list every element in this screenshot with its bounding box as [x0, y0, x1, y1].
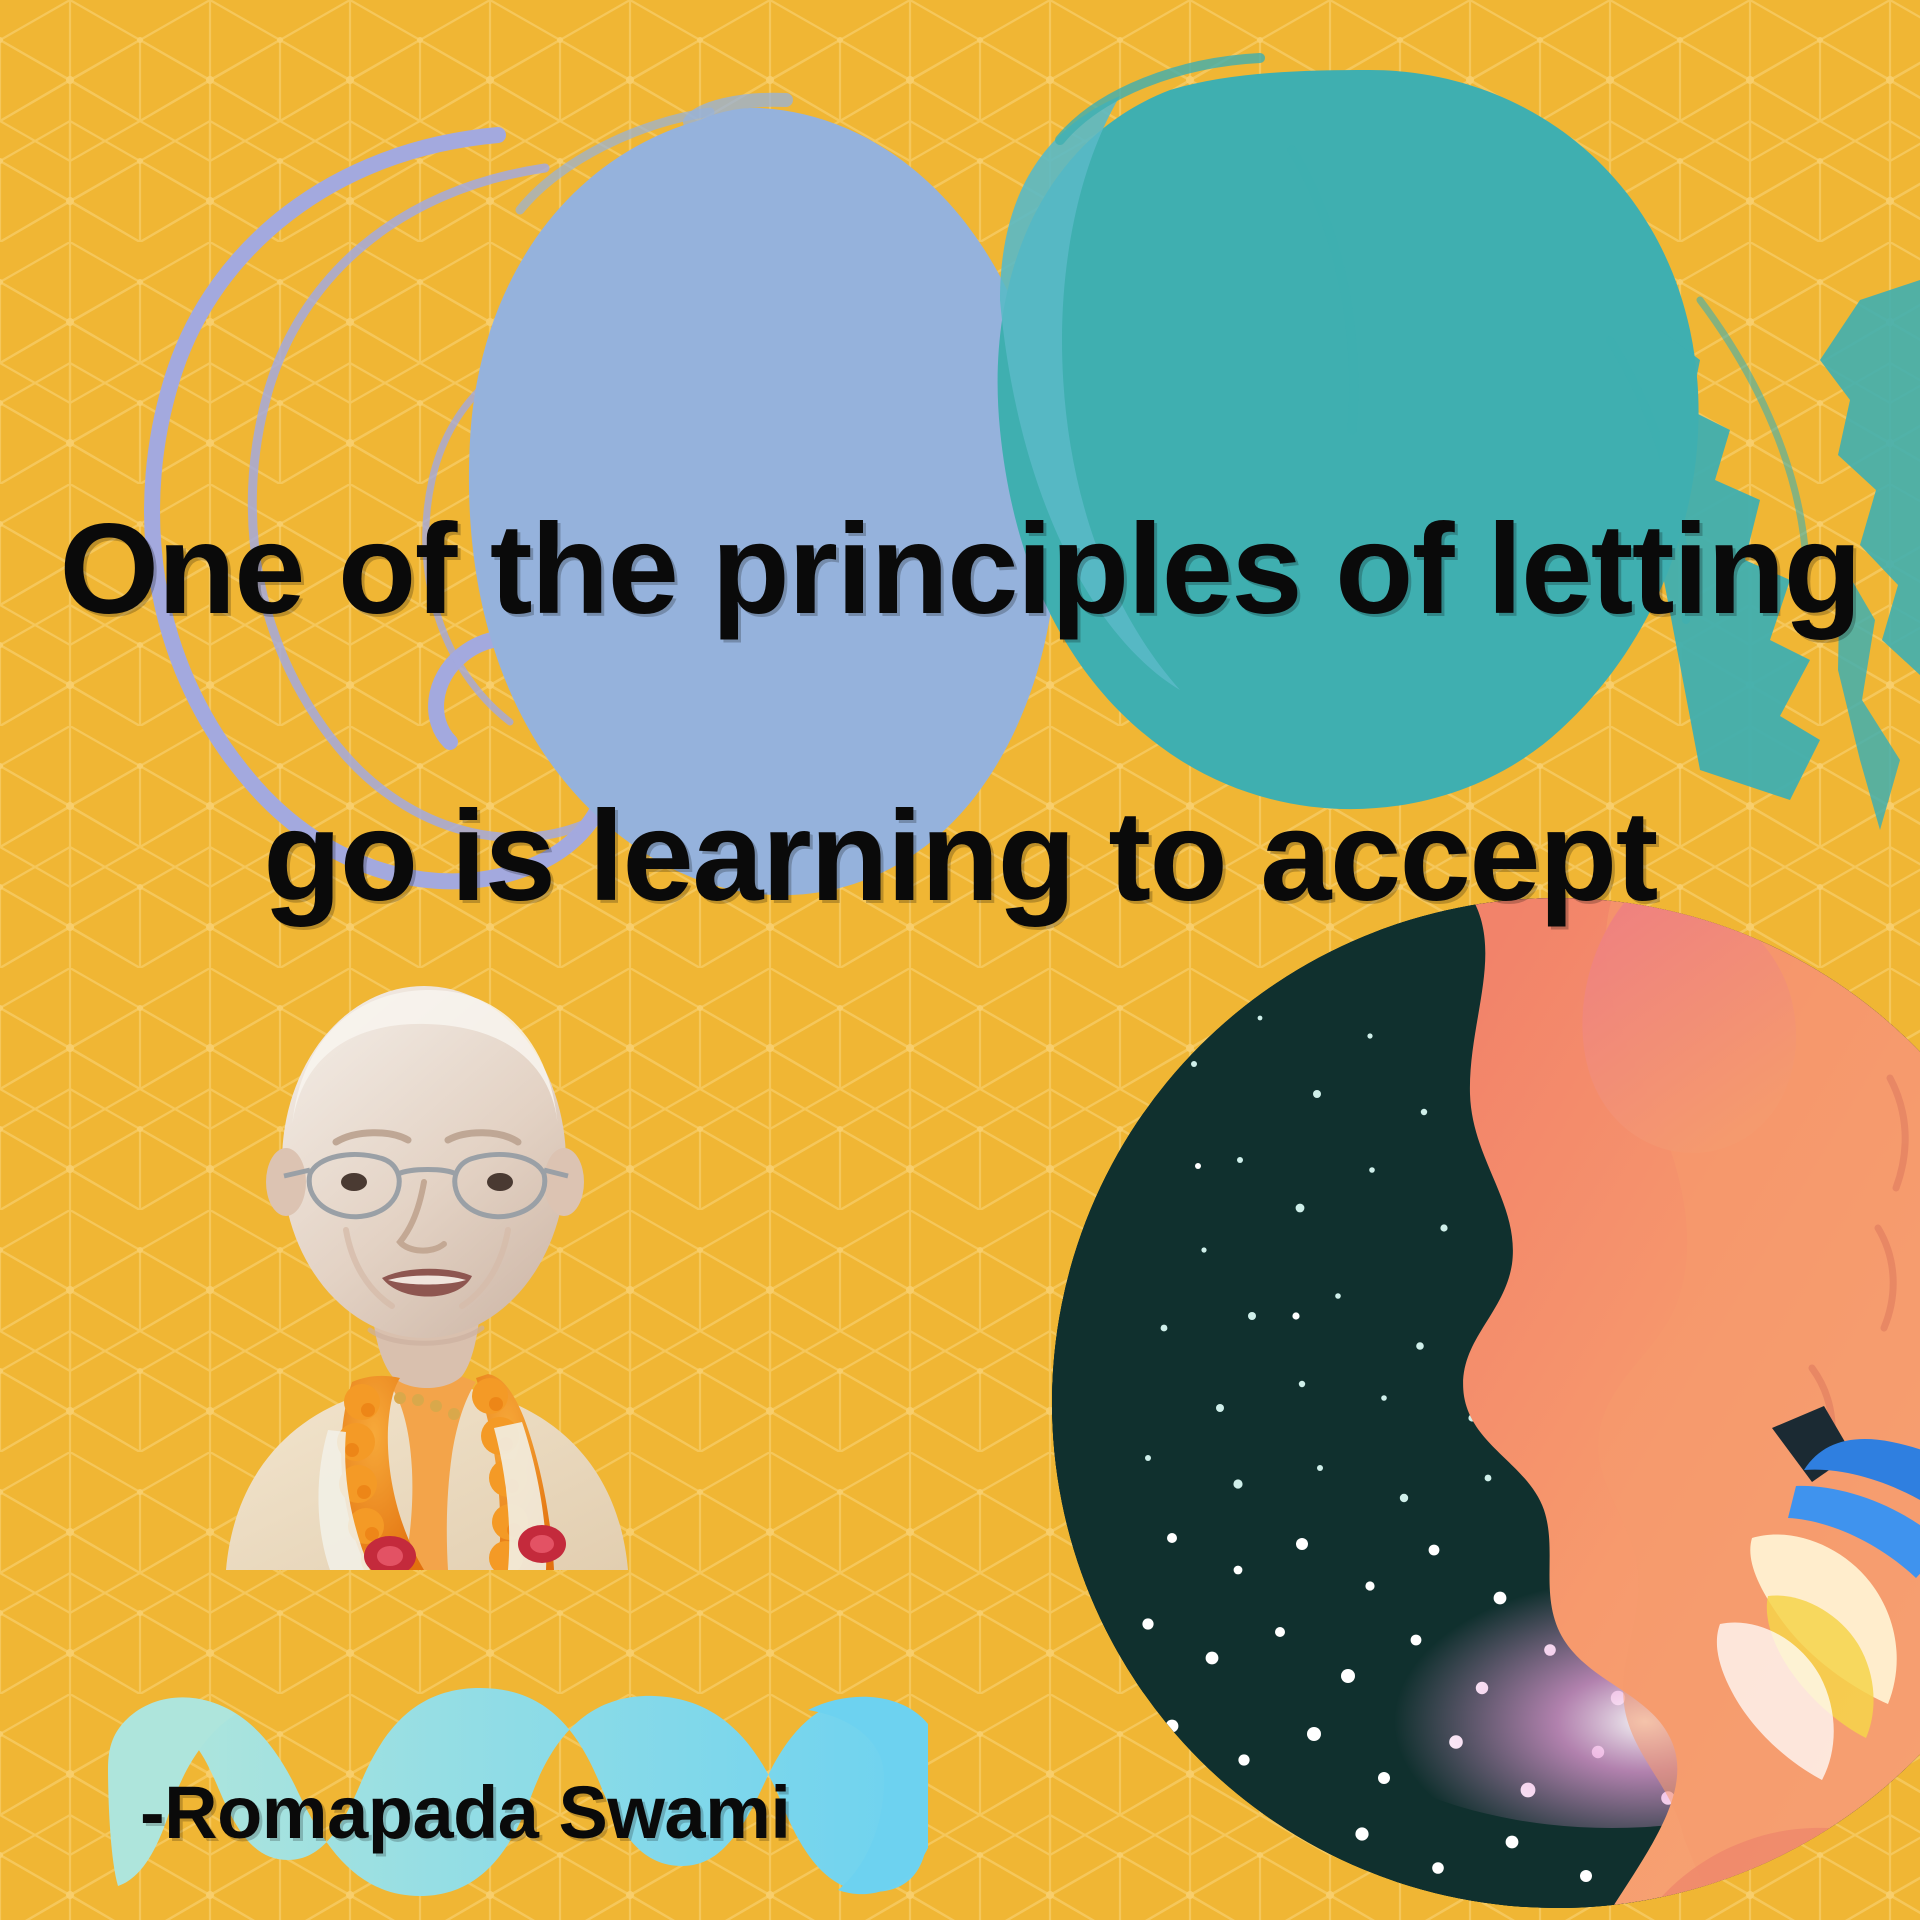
page-title: One of the principles of letting go is l…	[0, 355, 1920, 1072]
quote-line-1: One of the principles of letting	[0, 498, 1920, 641]
quote-line-2: go is learning to accept	[0, 785, 1920, 928]
attribution-text: -Romapada Swami	[140, 1770, 790, 1855]
quote-card: One of the principles of letting go is l…	[0, 0, 1920, 1920]
